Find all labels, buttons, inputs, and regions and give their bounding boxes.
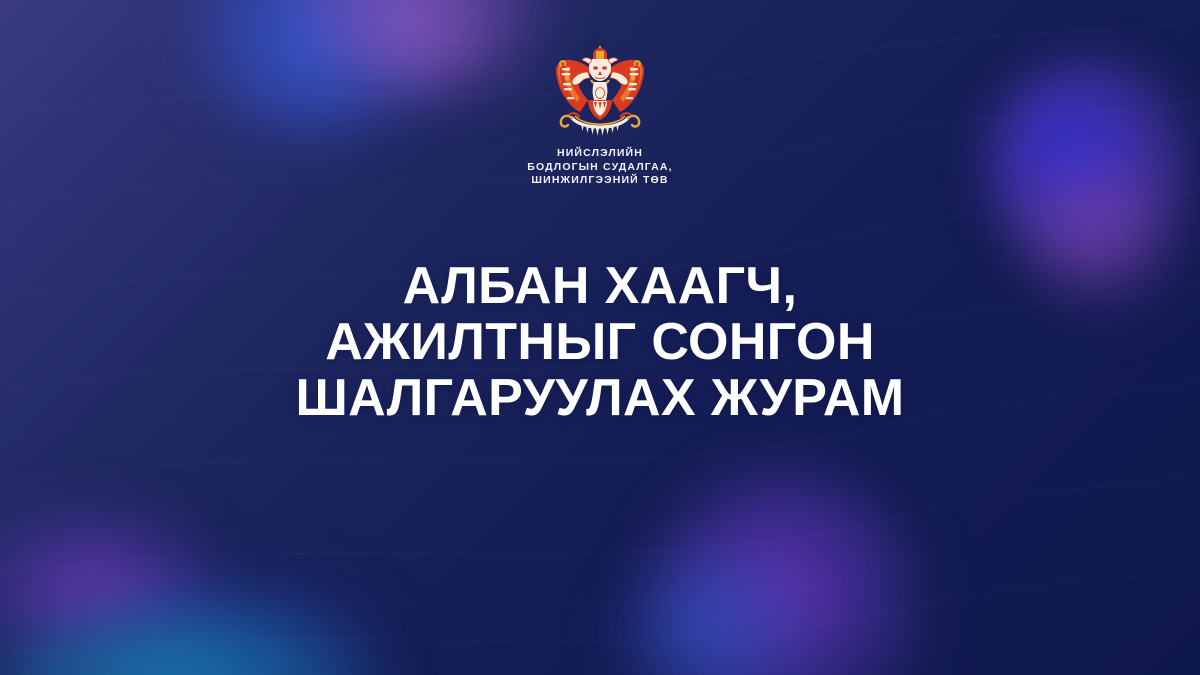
slide-title-line-3: ШАЛГАРУУЛАХ ЖУРАМ (0, 370, 1200, 426)
organization-name-line-1: НИЙСЛЭЛИЙН (527, 147, 672, 161)
organization-name: НИЙСЛЭЛИЙН БОДЛОГЫН СУДАЛГАА, ШИНЖИЛГЭЭН… (527, 147, 672, 188)
presentation-title-slide: НИЙСЛЭЛИЙН БОДЛОГЫН СУДАЛГАА, ШИНЖИЛГЭЭН… (0, 0, 1200, 675)
slide-title-line-2: АЖИЛТНЫГ СОНГОН (0, 314, 1200, 370)
organization-name-line-3: ШИНЖИЛГЭЭНИЙ ТӨВ (527, 174, 672, 188)
khangarid-garuda-emblem-icon (548, 44, 652, 140)
slide-title: АЛБАН ХААГЧ, АЖИЛТНЫГ СОНГОН ШАЛГАРУУЛАХ… (0, 258, 1200, 426)
organization-name-line-2: БОДЛОГЫН СУДАЛГАА, (527, 161, 672, 175)
organization-logo-block: НИЙСЛЭЛИЙН БОДЛОГЫН СУДАЛГАА, ШИНЖИЛГЭЭН… (0, 44, 1200, 188)
slide-title-line-1: АЛБАН ХААГЧ, (0, 258, 1200, 314)
